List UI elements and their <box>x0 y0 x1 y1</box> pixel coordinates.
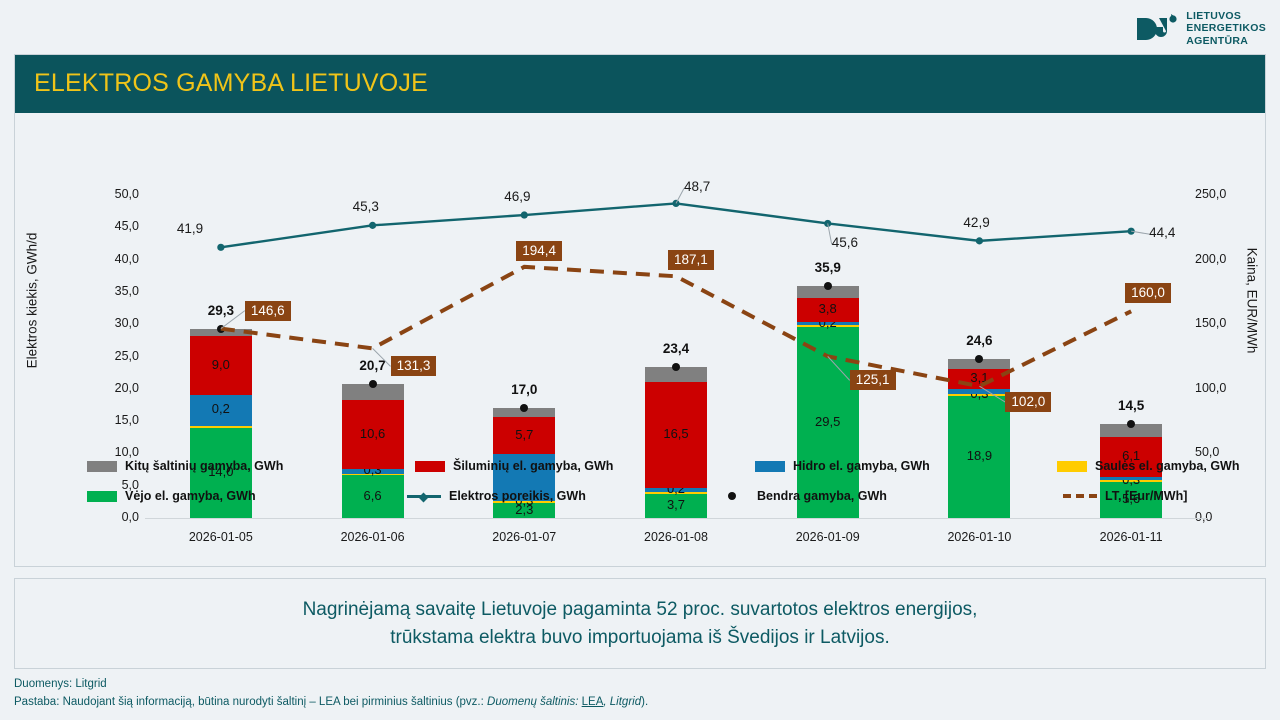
legend-item-kitu-saltiniu[interactable]: Kitų šaltinių gamyba, GWh <box>87 459 283 473</box>
price-value-label: 125,1 <box>850 370 896 390</box>
legend-swatch-icon <box>1057 461 1087 472</box>
footer-source: Duomenys: Litgrid <box>14 676 1266 694</box>
footer-note-prefix: Pastaba: Naudojant šią informaciją, būti… <box>14 696 487 708</box>
x-axis-tick: 2026-01-11 <box>1071 530 1191 544</box>
price-value-label: 160,0 <box>1125 283 1171 303</box>
legend-dot-icon <box>728 492 736 500</box>
legend-line-icon <box>407 495 441 498</box>
x-axis-tick: 2026-01-07 <box>464 530 584 544</box>
y-axis-left-tick: 45,0 <box>83 219 139 233</box>
logo-line-2: ENERGETIKOS <box>1186 22 1266 34</box>
legend-item-kaina[interactable]: LT, [Eur/MWh] <box>1063 489 1187 503</box>
legend-item-hidro[interactable]: Hidro el. gamyba, GWh <box>755 459 930 473</box>
legend-label: Vėjo el. gamyba, GWh <box>125 489 256 503</box>
summary-box: Nagrinėjamą savaitę Lietuvoje pagaminta … <box>14 578 1266 669</box>
y-axis-left-tick: 15,0 <box>83 413 139 427</box>
x-axis-tick: 2026-01-06 <box>313 530 433 544</box>
summary-line-2: trūkstama elektra buvo importuojama iš Š… <box>390 627 889 648</box>
demand-value-label: 48,7 <box>684 179 710 194</box>
page-title: ELEKTROS GAMYBA LIETUVOJE <box>34 69 428 98</box>
chart-card: ELEKTROS GAMYBA LIETUVOJE Elektros kieki… <box>14 54 1266 567</box>
price-value-label: 187,1 <box>668 250 714 270</box>
bar-segment-label: 9,0 <box>190 357 252 372</box>
legend-label: Saulės el. gamyba, GWh <box>1095 459 1240 473</box>
total-production-dot <box>672 363 680 371</box>
legend-label: Elektros poreikis, GWh <box>449 489 586 503</box>
x-axis-tick: 2026-01-05 <box>161 530 281 544</box>
footer-note-suffix: ). <box>641 696 648 708</box>
chart-page: LIETUVOS ENERGETIKOS AGENTŪRA ELEKTROS G… <box>0 0 1280 720</box>
logo-line-3: AGENTŪRA <box>1186 35 1266 47</box>
price-value-label: 146,6 <box>245 301 291 321</box>
footer-note-link[interactable]: LEA <box>582 696 604 708</box>
x-axis-tick: 2026-01-08 <box>616 530 736 544</box>
footer-note: Pastaba: Naudojant šią informaciją, būti… <box>14 694 1266 712</box>
price-value-label: 102,0 <box>1005 392 1051 412</box>
total-production-dot <box>824 282 832 290</box>
legend-dot-wrap <box>715 492 749 500</box>
demand-value-label: 44,4 <box>1149 225 1175 240</box>
footer: Duomenys: Litgrid Pastaba: Naudojant šią… <box>14 676 1266 712</box>
y-axis-right-tick: 200,0 <box>1195 252 1255 266</box>
lea-logo-mark <box>1135 12 1179 46</box>
bar-segment-label: 3,1 <box>948 370 1010 385</box>
y-axis-right-tick: 250,0 <box>1195 187 1255 201</box>
y-axis-left-title: Elektros kiekis, GWh/d <box>25 191 40 411</box>
bar-segment-saules[interactable] <box>190 426 252 428</box>
y-axis-right-tick: 150,0 <box>1195 316 1255 330</box>
legend-swatch-icon <box>755 461 785 472</box>
total-production-label: 14,5 <box>1091 398 1171 413</box>
demand-value-label: 41,9 <box>177 221 203 236</box>
y-axis-left-tick: 40,0 <box>83 252 139 266</box>
demand-value-label: 45,6 <box>832 235 858 250</box>
lea-logo-text: LIETUVOS ENERGETIKOS AGENTŪRA <box>1186 10 1266 47</box>
legend-swatch-icon <box>415 461 445 472</box>
total-production-dot <box>217 325 225 333</box>
legend-swatch-icon <box>87 461 117 472</box>
legend-item-poreikis[interactable]: Elektros poreikis, GWh <box>407 489 586 503</box>
demand-value-label: 42,9 <box>963 215 989 230</box>
total-production-label: 35,9 <box>788 260 868 275</box>
y-axis-left-tick: 30,0 <box>83 316 139 330</box>
y-axis-left-tick: 35,0 <box>83 284 139 298</box>
legend-label: LT, [Eur/MWh] <box>1105 489 1187 503</box>
bar-segment-label: 29,5 <box>797 414 859 429</box>
lea-logo: LIETUVOS ENERGETIKOS AGENTŪRA <box>1135 10 1266 47</box>
total-production-label: 17,0 <box>484 382 564 397</box>
bar-segment-hidro[interactable] <box>948 389 1010 394</box>
legend-dashed-line-icon <box>1063 494 1097 498</box>
legend-label: Hidro el. gamyba, GWh <box>793 459 930 473</box>
legend-item-siluminiu[interactable]: Šiluminių el. gamyba, GWh <box>415 459 613 473</box>
logo-line-1: LIETUVOS <box>1186 10 1266 22</box>
summary-line-1: Nagrinėjamą savaitę Lietuvoje pagaminta … <box>303 599 978 620</box>
y-axis-left-tick: 50,0 <box>83 187 139 201</box>
x-axis-line <box>145 518 1207 519</box>
y-axis-right-title: Kaina, EUR/MWh <box>1245 191 1260 411</box>
legend-item-vejo[interactable]: Vėjo el. gamyba, GWh <box>87 489 256 503</box>
bar-segment-label: 3,8 <box>797 301 859 316</box>
legend-swatch-icon <box>87 491 117 502</box>
total-production-label: 23,4 <box>636 341 716 356</box>
demand-value-label: 45,3 <box>353 199 379 214</box>
footer-note-italic2: , Litgrid <box>603 696 641 708</box>
price-value-label: 131,3 <box>391 356 437 376</box>
bar-segment-label: 16,5 <box>645 426 707 441</box>
x-axis-tick: 2026-01-10 <box>919 530 1039 544</box>
legend-item-bendra[interactable]: Bendra gamyba, GWh <box>715 489 887 503</box>
y-axis-right-tick: 100,0 <box>1195 381 1255 395</box>
legend-label: Bendra gamyba, GWh <box>757 489 887 503</box>
y-axis-left-tick: 25,0 <box>83 349 139 363</box>
bar-segment-label: 0,2 <box>190 401 252 416</box>
total-production-label: 24,6 <box>939 333 1019 348</box>
demand-value-label: 46,9 <box>504 189 530 204</box>
total-production-dot <box>369 380 377 388</box>
bar-segment-label: 5,7 <box>493 427 555 442</box>
legend-label: Šiluminių el. gamyba, GWh <box>453 459 613 473</box>
price-value-label: 194,4 <box>516 241 562 261</box>
chart-legend: Kitų šaltinių gamyba, GWhŠiluminių el. g… <box>15 453 1267 513</box>
legend-item-saules[interactable]: Saulės el. gamyba, GWh <box>1057 459 1240 473</box>
footer-note-italic: Duomenų šaltinis: <box>487 696 582 708</box>
chart-title-bar: ELEKTROS GAMYBA LIETUVOJE <box>15 55 1265 113</box>
bar-segment-label: 10,6 <box>342 426 404 441</box>
y-axis-left-tick: 20,0 <box>83 381 139 395</box>
legend-label: Kitų šaltinių gamyba, GWh <box>125 459 283 473</box>
x-axis-tick: 2026-01-09 <box>768 530 888 544</box>
